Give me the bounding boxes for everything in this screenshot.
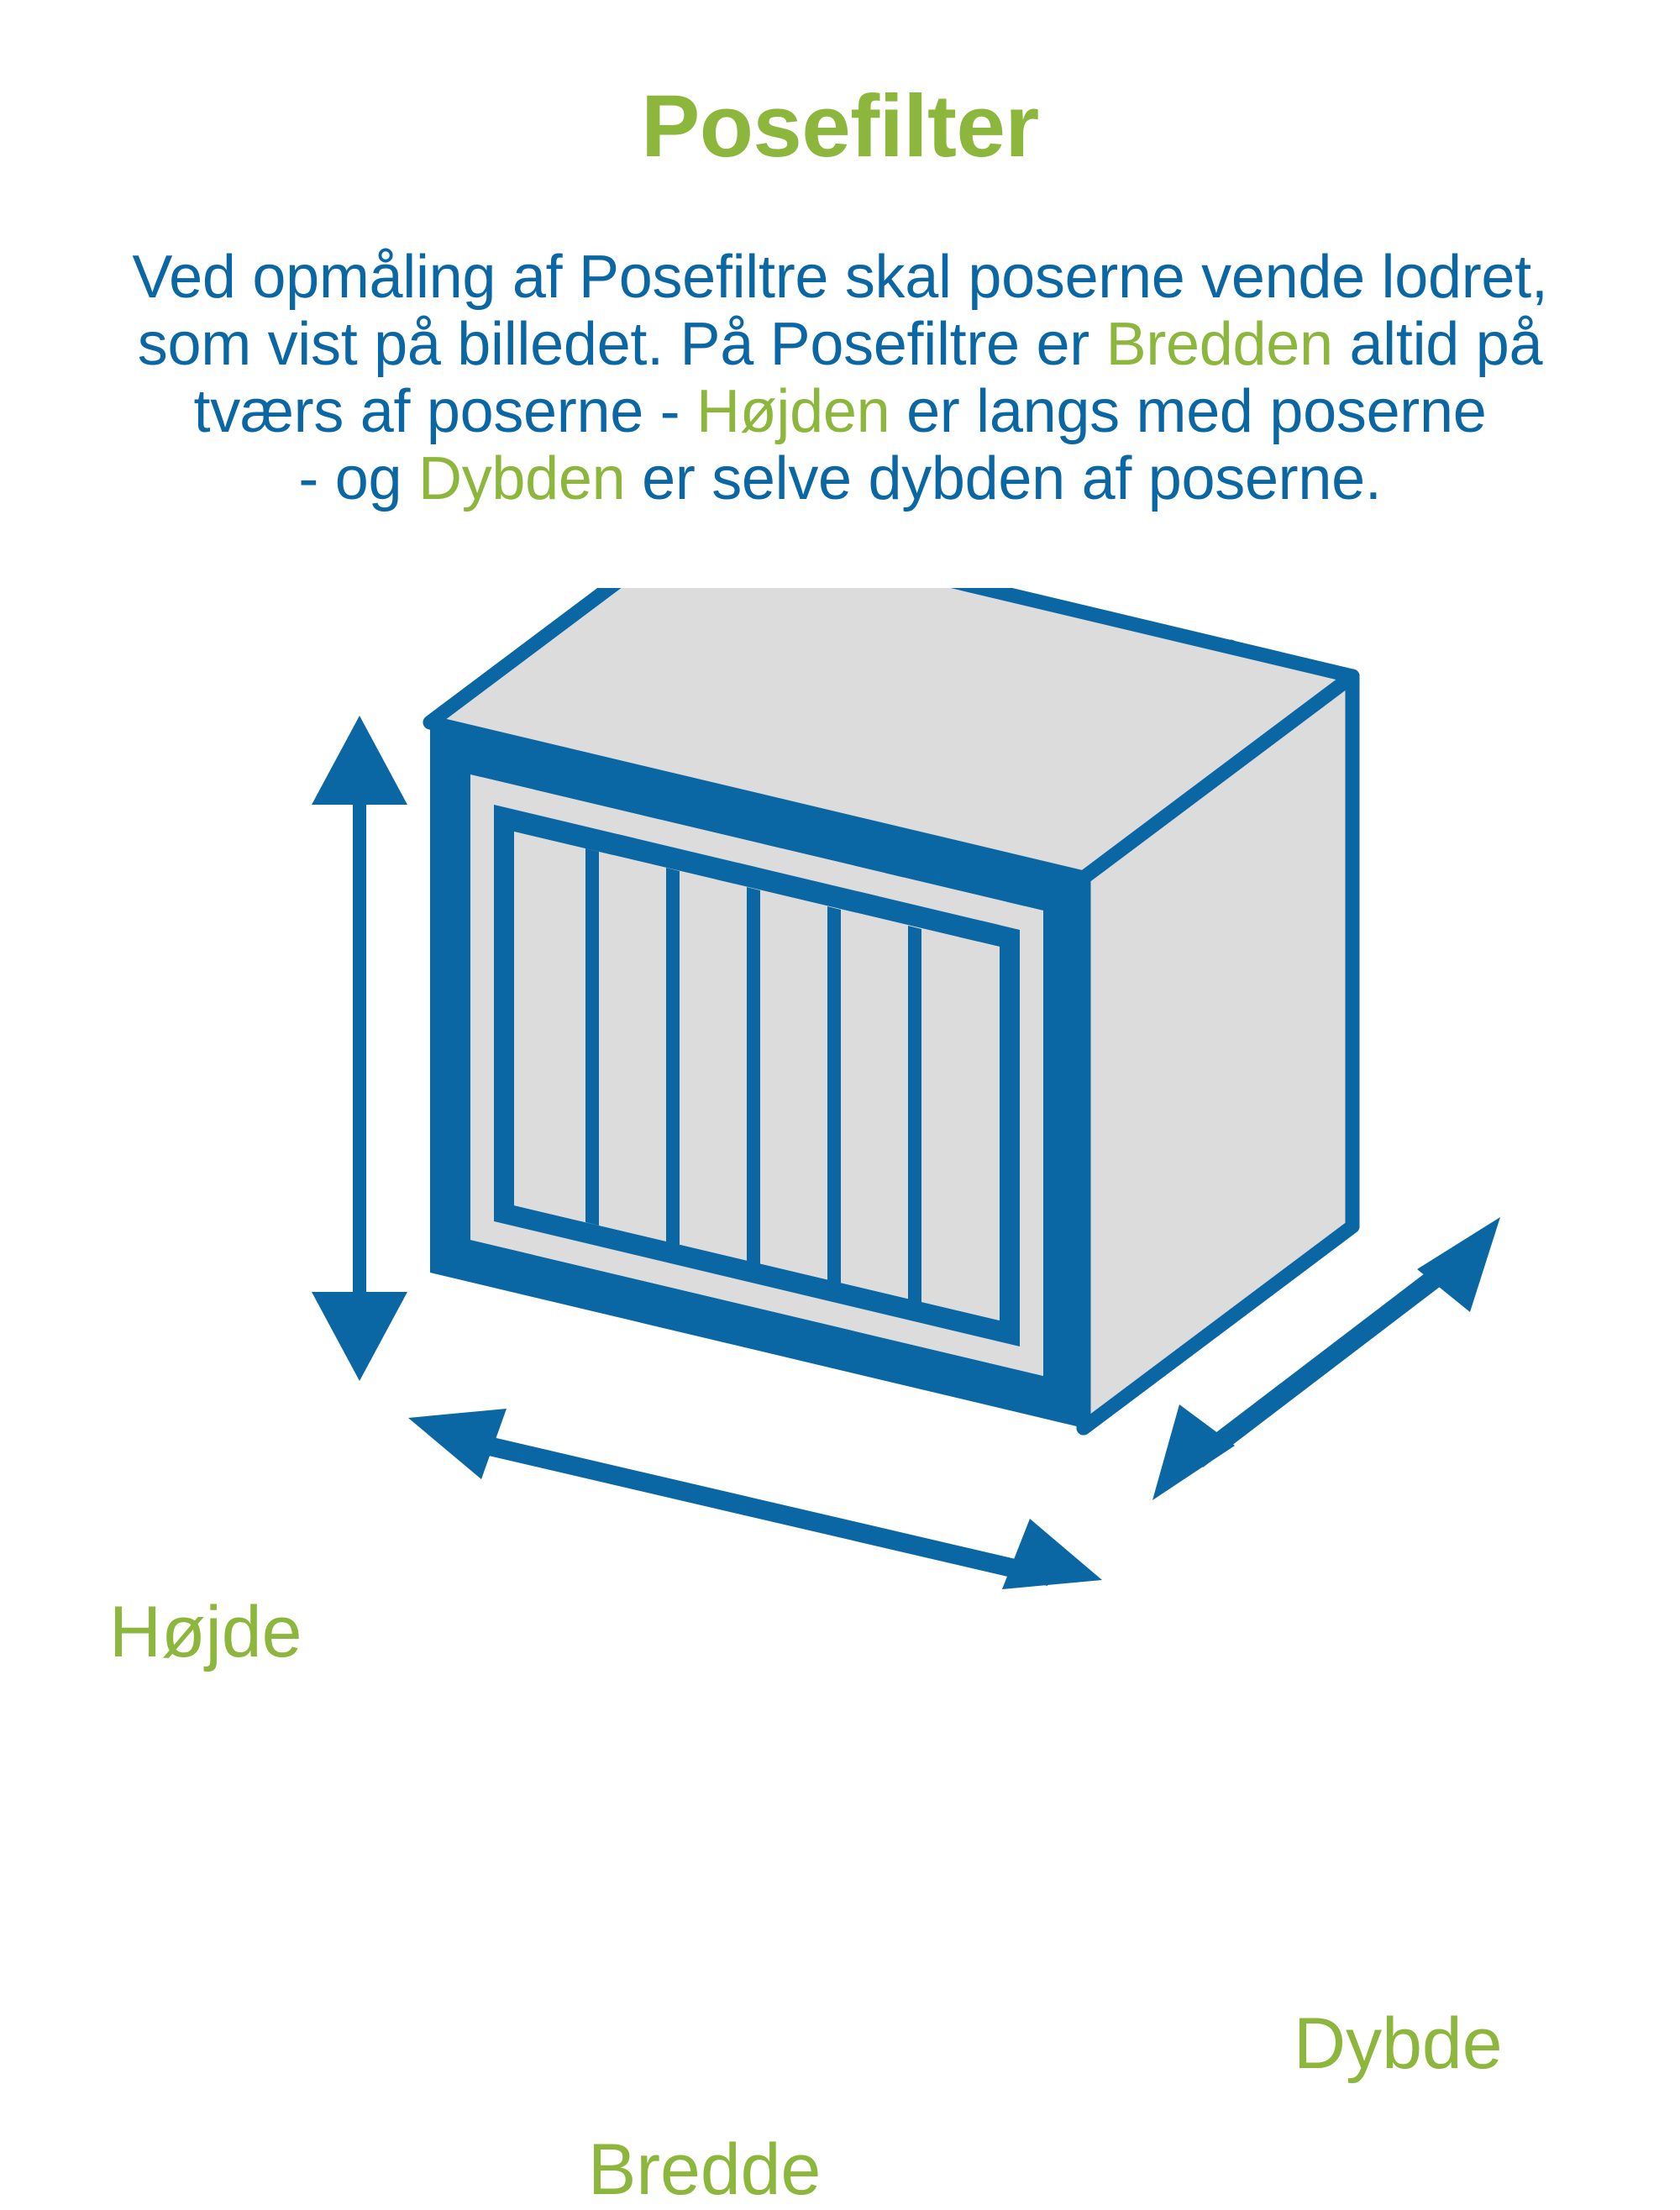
height-arrow: [312, 716, 407, 1381]
intro-line-2-part-c: altid på: [1333, 311, 1542, 378]
keyword-dybden: Dybden: [418, 445, 625, 512]
intro-line-1: Ved opmåling af Posefiltre skal poserne …: [132, 244, 1547, 311]
width-arrow: [408, 1409, 1102, 1589]
width-label: Bredde: [588, 2134, 821, 2206]
intro-line-4-part-a: - og: [298, 445, 418, 512]
intro-line-2-part-a: som vist på billedet. På Posefiltre er: [138, 311, 1106, 378]
intro-line-4-part-c: er selve dybden af poserne.: [625, 445, 1381, 512]
poster-canvas: Posefilter Ved opmåling af Posefiltre sk…: [0, 0, 1680, 1680]
intro-paragraph: Ved opmåling af Posefiltre skal poserne …: [84, 244, 1596, 512]
height-label: Højde: [109, 1596, 302, 1668]
keyword-hojden: Højden: [696, 378, 890, 445]
intro-line-3-part-a: tværs af poserne -: [194, 378, 697, 445]
keyword-bredden: Bredden: [1106, 311, 1333, 378]
bag-filter-diagram: Højde Bredde Dybde: [0, 588, 1680, 1680]
depth-label: Dybde: [1294, 2008, 1503, 2080]
page-title: Posefilter: [0, 82, 1680, 171]
intro-line-3-part-c: er langs med poserne: [890, 378, 1486, 445]
